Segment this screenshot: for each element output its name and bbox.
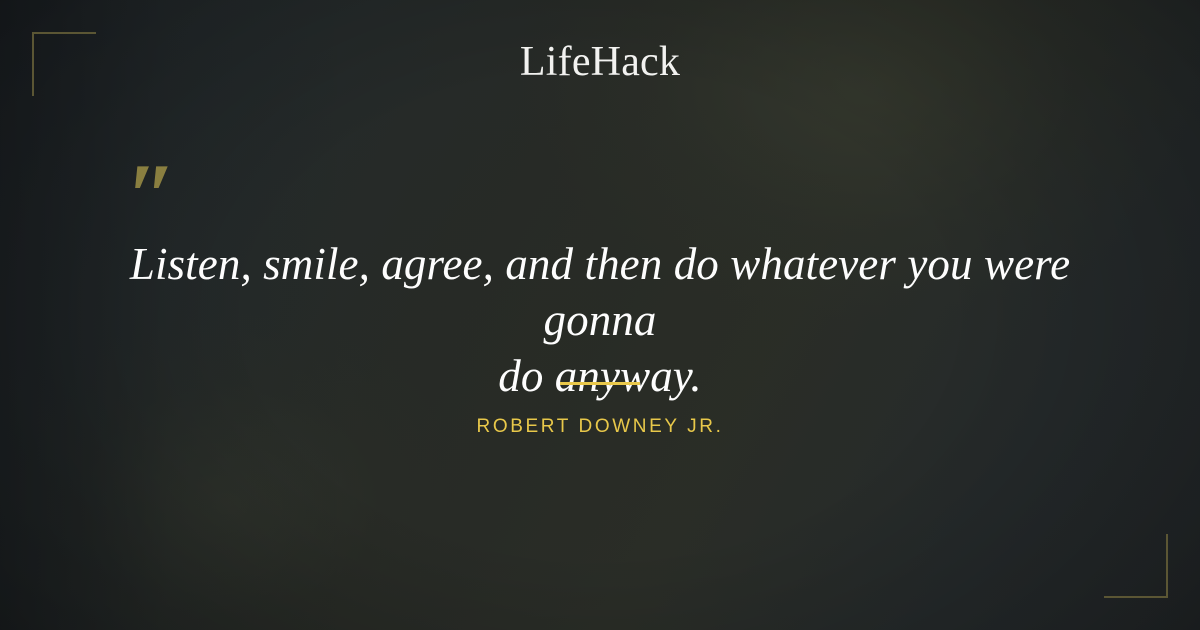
brand-logo: LifeHack [0, 38, 1200, 86]
divider-container [0, 382, 1200, 385]
gold-divider-rule [560, 382, 640, 385]
corner-bracket-bottom-right-icon [1104, 534, 1168, 598]
quote-body: Listen, smile, agree, and then do whatev… [90, 236, 1110, 404]
quote-line-1: Listen, smile, agree, and then do whatev… [90, 236, 1110, 348]
quotation-mark-icon: ″ [126, 150, 177, 242]
quote-line-2: do anyway. [90, 348, 1110, 404]
quote-card: LifeHack ″ Listen, smile, agree, and the… [0, 0, 1200, 630]
quote-author: ROBERT DOWNEY JR. [0, 414, 1200, 440]
